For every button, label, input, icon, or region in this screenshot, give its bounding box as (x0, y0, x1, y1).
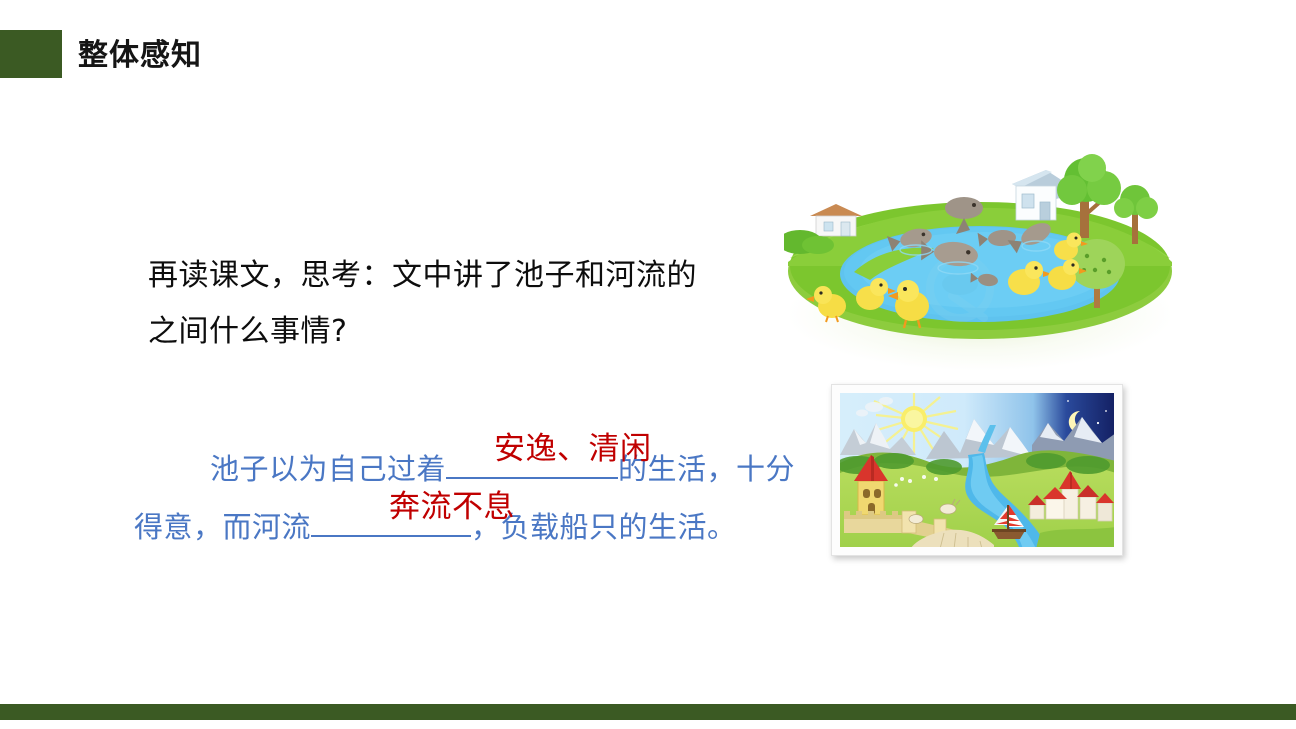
pond-with-ducks-illustration (784, 146, 1176, 346)
pond-svg (784, 146, 1176, 346)
answer-segment-1: 池子以为自己过着 (210, 452, 446, 486)
question-text: 再读课文，思考：文中讲了池子和河流的 之间什么事情? (148, 248, 788, 360)
question-line-2: 之间什么事情? (148, 304, 788, 360)
answer-blank-2[interactable] (311, 535, 471, 537)
footer-accent-bar (0, 704, 1296, 720)
filled-answer-2: 奔流不息 (389, 492, 515, 523)
filled-answer-1: 安逸、清闲 (494, 434, 652, 465)
river-landscape-framed-picture (831, 384, 1123, 556)
answer-segment-5: 活。 (678, 510, 737, 544)
river-svg (840, 393, 1114, 547)
answer-blank-1[interactable] (446, 477, 618, 479)
header-accent-block (0, 30, 62, 78)
house-left (810, 204, 862, 236)
page-title: 整体感知 (78, 38, 202, 74)
river-picture-inner (840, 393, 1114, 547)
question-line-1: 再读课文，思考：文中讲了池子和河流的 (148, 248, 788, 304)
slide-canvas: 整体感知 再读课文，思考：文中讲了池子和河流的 之间什么事情? 池子以为自己过着… (0, 0, 1296, 729)
